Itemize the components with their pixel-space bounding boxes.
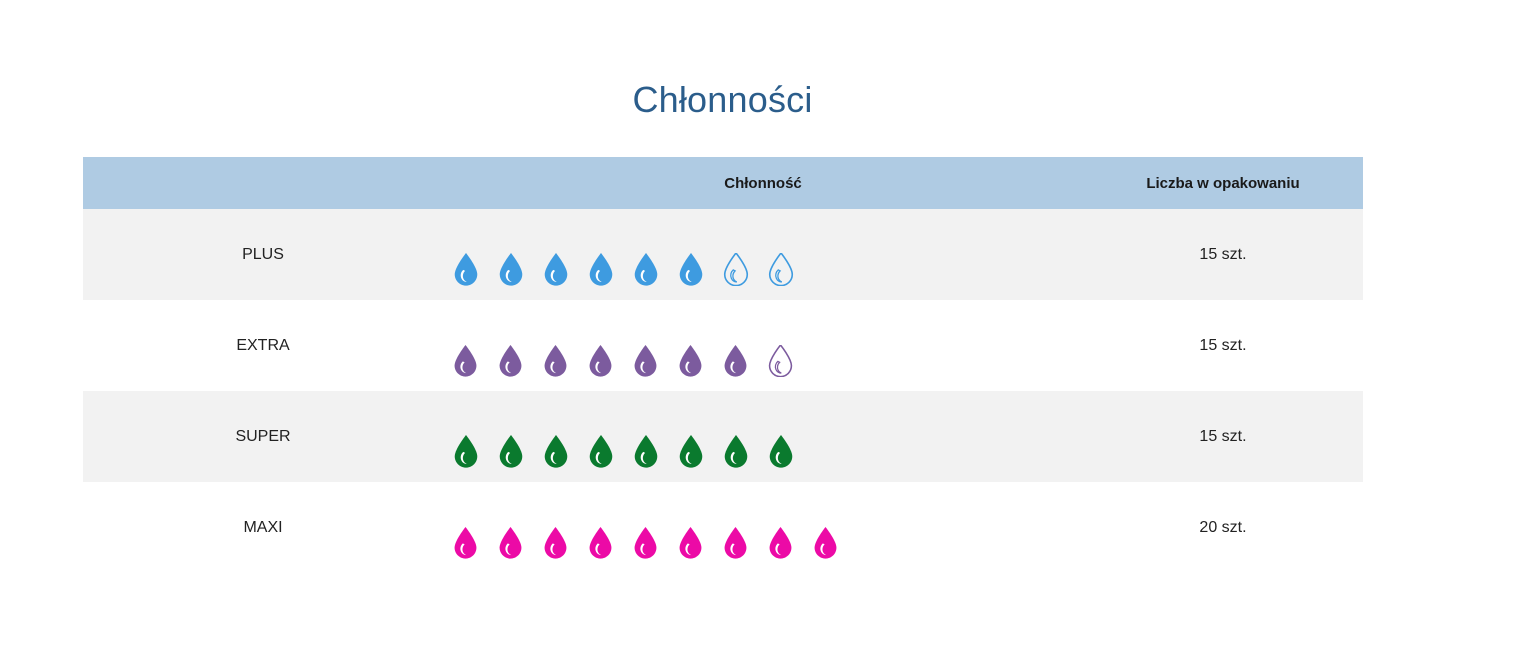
- page-title: Chłonności: [0, 74, 1445, 126]
- droplet-filled-icon: [633, 435, 659, 468]
- header-absorbency: Chłonność: [443, 175, 1083, 192]
- droplet-filled-icon: [633, 345, 658, 377]
- droplet-filled-icon: [678, 435, 704, 468]
- droplet-filled-icon: [633, 527, 658, 559]
- droplet-filled-icon: [588, 253, 614, 286]
- droplet-filled-icon: [543, 527, 568, 559]
- droplet-filled-icon: [678, 253, 704, 286]
- droplet-filled-icon: [498, 345, 523, 377]
- table-header-row: Chłonność Liczba w opakowaniu: [83, 157, 1363, 209]
- absorbency-table: Chłonność Liczba w opakowaniu PLUS15 szt…: [83, 157, 1363, 573]
- droplet-filled-icon: [453, 527, 478, 559]
- row-count-plus: 15 szt.: [1083, 246, 1363, 264]
- droplet-filled-icon: [723, 345, 748, 377]
- droplet-filled-icon: [723, 435, 749, 468]
- row-name-super: SUPER: [83, 428, 443, 446]
- row-name-extra: EXTRA: [83, 337, 443, 355]
- table-body: PLUS15 szt.EXTRA15 szt.SUPER15 szt.MAXI2…: [83, 209, 1363, 573]
- droplet-filled-icon: [768, 527, 793, 559]
- absorbency-page: Chłonności Chłonność Liczba w opakowaniu…: [0, 0, 1535, 648]
- droplet-filled-icon: [678, 345, 703, 377]
- table-row: EXTRA15 szt.: [83, 300, 1363, 391]
- table-row: SUPER15 szt.: [83, 391, 1363, 482]
- droplet-filled-icon: [453, 435, 479, 468]
- droplet-filled-icon: [588, 435, 614, 468]
- table-row: PLUS15 szt.: [83, 209, 1363, 300]
- row-count-maxi: 20 szt.: [1083, 519, 1363, 537]
- droplet-filled-icon: [498, 435, 524, 468]
- droplet-outline-icon: [723, 253, 749, 286]
- droplet-filled-icon: [453, 253, 479, 286]
- droplet-filled-icon: [543, 435, 569, 468]
- table-row: MAXI20 szt.: [83, 482, 1363, 573]
- droplet-filled-icon: [723, 527, 748, 559]
- header-count: Liczba w opakowaniu: [1083, 175, 1363, 192]
- droplet-outline-icon: [768, 345, 793, 377]
- absorbency-drops-plus: [443, 224, 1083, 286]
- droplet-filled-icon: [543, 253, 569, 286]
- droplet-filled-icon: [498, 253, 524, 286]
- absorbency-drops-super: [443, 406, 1083, 468]
- row-name-maxi: MAXI: [83, 519, 443, 537]
- droplet-filled-icon: [768, 435, 794, 468]
- row-count-extra: 15 szt.: [1083, 337, 1363, 355]
- droplet-filled-icon: [498, 527, 523, 559]
- droplet-filled-icon: [678, 527, 703, 559]
- droplet-filled-icon: [588, 527, 613, 559]
- absorbency-drops-maxi: [443, 497, 1083, 559]
- droplet-filled-icon: [543, 345, 568, 377]
- droplet-filled-icon: [588, 345, 613, 377]
- droplet-outline-icon: [768, 253, 794, 286]
- droplet-filled-icon: [813, 527, 838, 559]
- droplet-filled-icon: [633, 253, 659, 286]
- row-name-plus: PLUS: [83, 246, 443, 264]
- droplet-filled-icon: [453, 345, 478, 377]
- absorbency-drops-extra: [443, 315, 1083, 377]
- row-count-super: 15 szt.: [1083, 428, 1363, 446]
